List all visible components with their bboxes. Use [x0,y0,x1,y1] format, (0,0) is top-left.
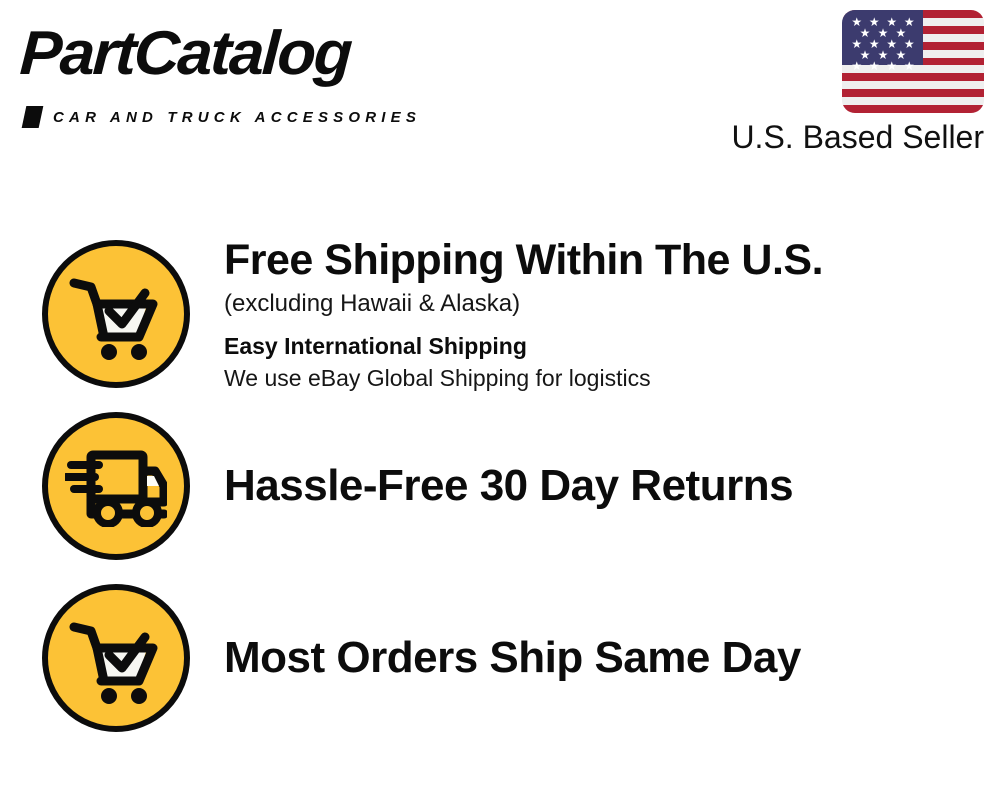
shopping-cart-check-icon [42,584,190,732]
logo-slab-icon [22,106,44,128]
flag-stripe [842,89,984,97]
us-based-seller-block: ★ ★ ★ ★ ★ ★ ★ ★ ★ ★ ★ ★ ★ [684,10,984,157]
feature-note: (excluding Hawaii & Alaska) [224,288,980,320]
star-icon: ★ [886,60,897,72]
brand-tagline: CAR AND TRUCK ACCESSORIES [53,109,421,126]
flag-stripe [842,97,984,105]
shopping-cart-check-icon [42,240,190,388]
delivery-truck-icon [42,412,190,560]
feature-title: Most Orders Ship Same Day [224,632,980,684]
us-flag-icon: ★ ★ ★ ★ ★ ★ ★ ★ ★ ★ ★ ★ ★ [842,10,984,113]
flag-stripe [842,105,984,113]
brand-tagline-row: CAR AND TRUCK ACCESSORIES [24,106,421,128]
feature-title: Free Shipping Within The U.S. [224,234,980,286]
star-icon: ★ [869,60,880,72]
feature-text-same-day: Most Orders Ship Same Day [190,632,1000,684]
flag-star-row: ★ ★ ★ ★ [848,60,918,71]
feature-list: Free Shipping Within The U.S. (excluding… [0,228,1000,744]
brand-wordmark: PartCatalog [18,18,352,90]
feature-row-free-shipping: Free Shipping Within The U.S. (excluding… [0,228,1000,400]
feature-row-same-day: Most Orders Ship Same Day [0,572,1000,744]
star-icon: ★ [851,60,862,72]
us-based-seller-label: U.S. Based Seller [684,117,984,157]
star-icon: ★ [904,60,915,72]
brand-logo: PartCatalog CAR AND TRUCK ACCESSORIES [22,18,492,118]
feature-subtitle-strong: Easy International Shipping [224,330,980,362]
flag-canton: ★ ★ ★ ★ ★ ★ ★ ★ ★ ★ ★ ★ ★ [842,10,923,65]
feature-title: Hassle-Free 30 Day Returns [224,460,980,512]
flag-stripe [842,73,984,81]
feature-text-returns: Hassle-Free 30 Day Returns [190,460,1000,512]
feature-text-free-shipping: Free Shipping Within The U.S. (excluding… [190,234,1000,394]
feature-subtitle: We use eBay Global Shipping for logistic… [224,362,980,394]
promo-banner: PartCatalog CAR AND TRUCK ACCESSORIES [0,0,1000,800]
flag-stripe [842,81,984,89]
feature-row-returns: Hassle-Free 30 Day Returns [0,400,1000,572]
